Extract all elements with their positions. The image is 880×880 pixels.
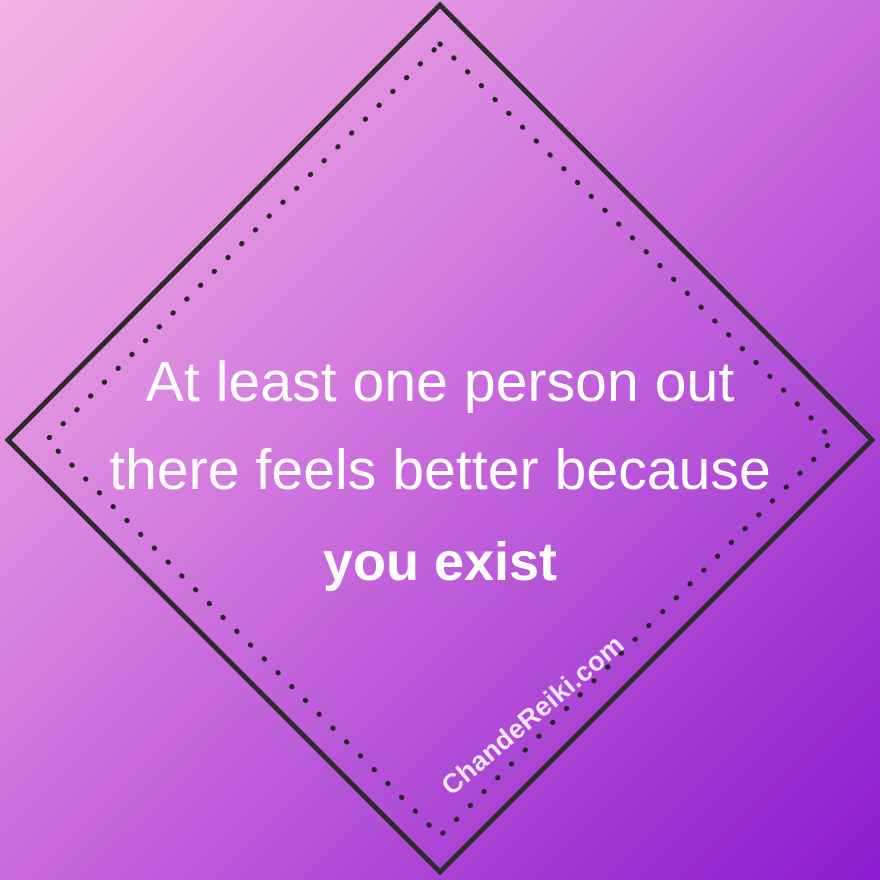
quote-line-2: there feels better because xyxy=(0,426,880,514)
watermark-chandereiki: ChandeReiki.com xyxy=(409,606,657,824)
quote-image-canvas: At least one person out there feels bett… xyxy=(0,0,880,880)
quote-emphasis: you exist xyxy=(0,514,880,610)
quote-line-1: At least one person out xyxy=(0,338,880,426)
quote-block: At least one person out there feels bett… xyxy=(0,338,880,610)
